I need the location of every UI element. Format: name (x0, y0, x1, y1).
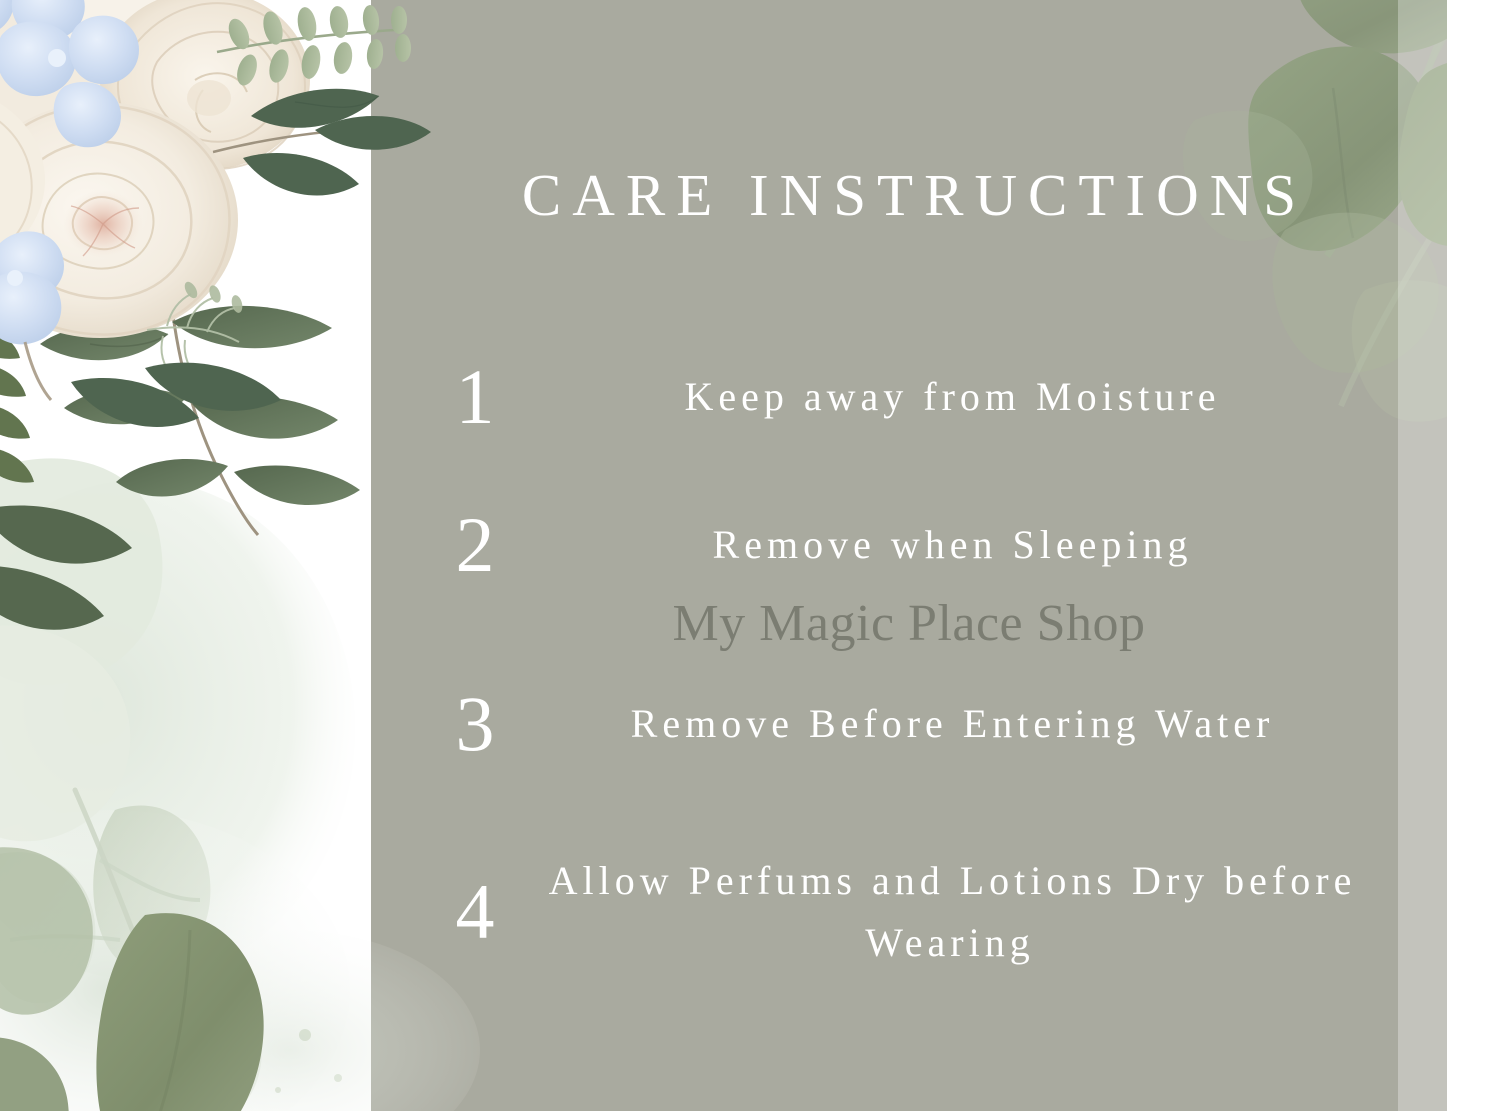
care-instructions-card: CARE INSTRUCTIONS 1 Keep away from Moist… (0, 0, 1500, 1111)
item-text: Keep away from Moisture (530, 366, 1380, 428)
list-item: 3 Remove Before Entering Water (420, 649, 1380, 799)
item-number: 2 (420, 506, 530, 584)
right-white-strip (1447, 0, 1500, 1111)
page-title: CARE INSTRUCTIONS (371, 163, 1447, 228)
item-number: 1 (420, 358, 530, 436)
shop-watermark: My Magic Place Shop (371, 598, 1447, 650)
item-number: 4 (420, 873, 530, 951)
item-text: Allow Perfums and Lotions Dry before Wea… (535, 850, 1375, 974)
instructions-list: 1 Keep away from Moisture 2 Remove when … (420, 345, 1380, 987)
item-number: 3 (420, 685, 530, 763)
list-item: 4 Allow Perfums and Lotions Dry before W… (420, 837, 1380, 987)
item-text: Remove Before Entering Water (570, 693, 1340, 755)
list-item: 1 Keep away from Moisture (420, 345, 1380, 449)
list-item: 2 Remove when Sleeping (420, 493, 1380, 597)
item-text: Remove when Sleeping (530, 514, 1380, 576)
